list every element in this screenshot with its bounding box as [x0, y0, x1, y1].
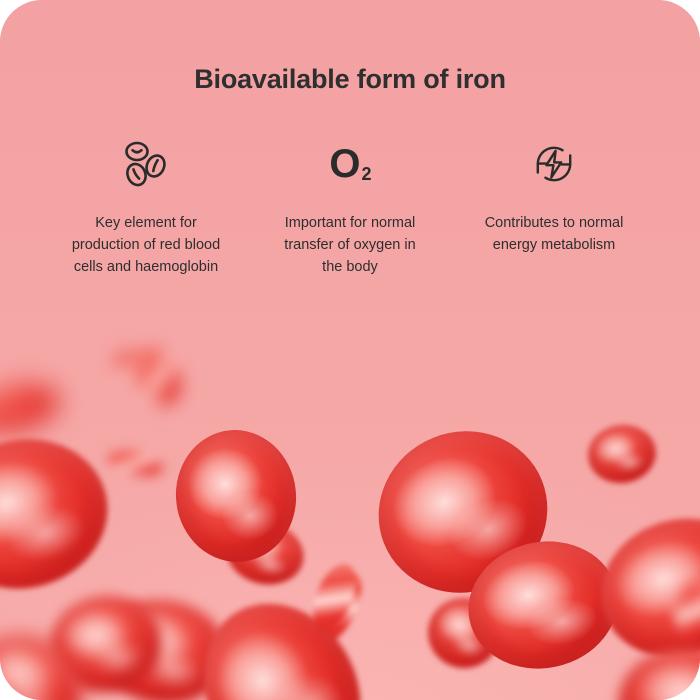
blood-cell-edge	[105, 446, 164, 479]
infographic-card: Bioavailable form of iron Key element fo…	[0, 0, 700, 700]
page-title: Bioavailable form of iron	[0, 64, 700, 95]
blood-cell-distant	[0, 376, 64, 440]
oxygen-o2-icon: O2	[329, 138, 370, 190]
o2-subscript: 2	[362, 165, 372, 183]
header: Bioavailable form of iron	[0, 0, 700, 95]
benefits-row: Key element for production of red blood …	[56, 138, 644, 278]
energy-cycle-icon	[529, 138, 579, 190]
benefit-item-blood-cells: Key element for production of red blood …	[56, 138, 236, 278]
blood-cells-icon	[120, 138, 172, 190]
benefit-item-energy: Contributes to normal energy metabolism	[464, 138, 644, 278]
blood-cell	[0, 422, 123, 607]
blood-cell	[584, 421, 659, 488]
benefit-text: Contributes to normal energy metabolism	[479, 212, 629, 256]
red-blood-cells-illustration	[0, 0, 700, 700]
benefit-text: Key element for production of red blood …	[71, 212, 221, 278]
benefit-text: Important for normal transfer of oxygen …	[275, 212, 425, 278]
benefit-item-oxygen: O2 Important for normal transfer of oxyg…	[260, 138, 440, 278]
o2-symbol: O	[329, 144, 360, 184]
